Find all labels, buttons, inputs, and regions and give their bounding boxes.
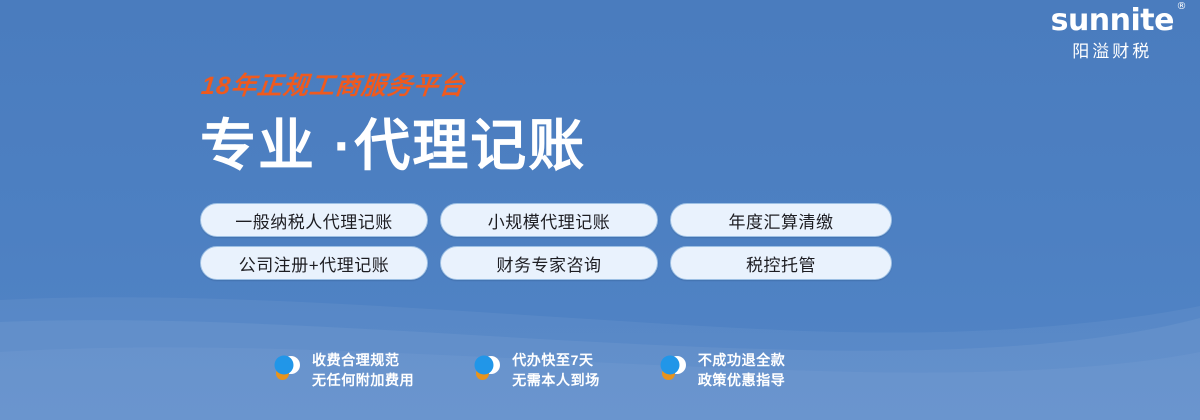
service-tag-list: 一般纳税人代理记账 小规模代理记账 年度汇算清缴 公司注册+代理记账 财务专家咨… (200, 203, 892, 289)
feature-line-2: 无任何附加费用 (312, 370, 414, 390)
logo-wordmark: sunnite ® (1051, 6, 1174, 36)
feature-line-1: 收费合理规范 (312, 350, 414, 370)
feature-line-1: 代办快至7天 (512, 350, 600, 370)
tri-circle-icon (472, 353, 502, 387)
service-tag-row-1: 一般纳税人代理记账 小规模代理记账 年度汇算清缴 (200, 203, 892, 237)
feature-item-speed: 代办快至7天 无需本人到场 (472, 350, 600, 391)
logo-wordmark-text: sunnite (1051, 3, 1174, 38)
tri-circle-icon (272, 353, 302, 387)
feature-item-text: 代办快至7天 无需本人到场 (512, 350, 600, 391)
feature-list: 收费合理规范 无任何附加费用 代办快至7天 无需本人到场 (272, 350, 785, 391)
brand-logo[interactable]: sunnite ® 阳溢财税 (1051, 6, 1174, 60)
eyebrow-text: 18年正规工商服务平台 (200, 74, 589, 99)
feature-line-2: 政策优惠指导 (698, 370, 786, 390)
service-tag-tax-control-custody[interactable]: 税控托管 (670, 246, 892, 280)
tri-circle-icon (658, 353, 688, 387)
registered-trademark-icon: ® (1177, 2, 1187, 12)
service-tag-finance-consulting[interactable]: 财务专家咨询 (440, 246, 658, 280)
feature-line-1: 不成功退全款 (698, 350, 786, 370)
service-tag-small-scale[interactable]: 小规模代理记账 (440, 203, 658, 237)
feature-line-2: 无需本人到场 (512, 370, 600, 390)
feature-item-pricing: 收费合理规范 无任何附加费用 (272, 350, 414, 391)
promo-banner: sunnite ® 阳溢财税 18年正规工商服务平台 专业 ·代理记账 一般纳税… (0, 0, 1200, 420)
feature-item-text: 不成功退全款 政策优惠指导 (698, 350, 786, 391)
service-tag-general-taxpayer[interactable]: 一般纳税人代理记账 (200, 203, 428, 237)
feature-item-text: 收费合理规范 无任何附加费用 (312, 350, 414, 391)
headline-block: 18年正规工商服务平台 专业 ·代理记账 (200, 74, 586, 178)
service-tag-company-registration[interactable]: 公司注册+代理记账 (200, 246, 428, 280)
service-tag-row-2: 公司注册+代理记账 财务专家咨询 税控托管 (200, 246, 892, 280)
feature-item-guarantee: 不成功退全款 政策优惠指导 (658, 350, 786, 391)
service-tag-annual-settlement[interactable]: 年度汇算清缴 (670, 203, 892, 237)
page-title: 专业 ·代理记账 (200, 115, 586, 178)
logo-chinese-name: 阳溢财税 (1051, 43, 1174, 60)
